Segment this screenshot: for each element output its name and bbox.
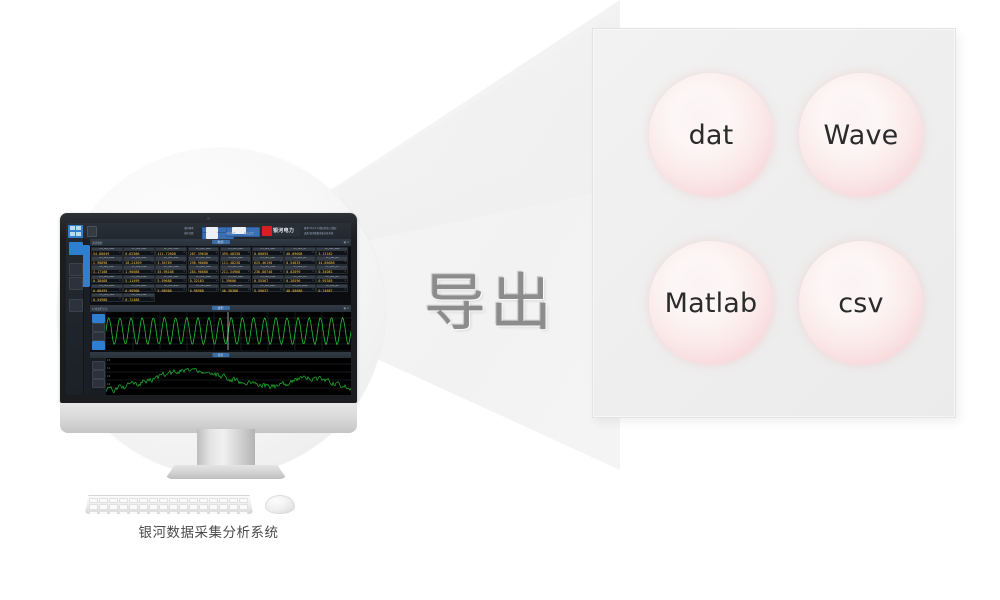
desktop-computer: 采样频率 采样点数 通道配置 触发设置 记录 银河电力 版本:V3.2.1.0 … — [60, 213, 357, 428]
table-cell-unit: V — [248, 271, 249, 273]
keyboard-key[interactable] — [99, 504, 108, 509]
table-cell-unit: V — [344, 280, 345, 282]
waveform-plot[interactable] — [106, 312, 351, 350]
keyboard-key[interactable] — [129, 504, 138, 509]
format-bubble-dat[interactable]: dat — [649, 73, 773, 197]
table-cell[interactable]: CH_ALL_DM91.39606V — [220, 275, 252, 284]
table-cell[interactable]: CH_ALL_FM20.72488V — [123, 293, 155, 302]
spectrum-tool-2[interactable] — [92, 370, 105, 379]
table-cell-value: 0.54835 — [286, 261, 312, 265]
spectrum-ytick-3: 0.0 — [107, 384, 110, 386]
table-cell[interactable]: CH_ALL_DM65.11499V — [123, 275, 155, 284]
data-table-window-buttons[interactable]: ▣ ✕ — [344, 241, 349, 244]
spectrum-tool-1[interactable] — [92, 361, 105, 370]
data-table-panel: 通道数据 数值 ▣ ✕ CH_ALL_AM154.80049VCH_ALL_AM… — [90, 239, 351, 303]
table-cell[interactable]: CH_ALL_DM50.38468V — [91, 275, 123, 284]
data-table-left-label: 通道数据 — [92, 241, 102, 245]
table-cell-unit: V — [280, 252, 281, 254]
keyboard-key[interactable] — [219, 498, 228, 503]
daq-application: 采样频率 采样点数 通道配置 触发设置 记录 银河电力 版本:V3.2.1.0 … — [66, 223, 351, 395]
keyboard-key[interactable] — [189, 498, 198, 503]
keyboard-key[interactable] — [169, 498, 178, 503]
table-cell-unit: V — [280, 289, 281, 291]
waveform-panel: 时域波形显示 波形 ▣ ✕ — [90, 305, 351, 350]
format-label-matlab: Matlab — [665, 288, 758, 319]
table-cell-unit: V — [248, 261, 249, 263]
waveform-left-label: 时域波形显示 — [92, 307, 108, 311]
table-cell-value: 0.34081 — [318, 270, 344, 274]
monitor-stand-foot — [165, 465, 287, 479]
table-cell-value: 5.11499 — [125, 279, 151, 283]
format-bubble-csv[interactable]: csv — [799, 241, 923, 365]
spectrum-ytick-0: 0.6 — [107, 360, 110, 362]
table-cell[interactable]: CH_ALL_CM81.90088V — [123, 265, 155, 274]
table-cell-unit: V — [248, 280, 249, 282]
waveform-tool-zoom[interactable] — [92, 323, 105, 332]
table-cell-unit: V — [184, 271, 185, 273]
keyboard-key[interactable] — [139, 498, 148, 503]
table-cell-unit: V — [184, 252, 185, 254]
table-cell[interactable]: CH_ALL_AM60.80855V — [252, 247, 284, 256]
table-cell-unit: V — [216, 289, 217, 291]
keyboard-key[interactable] — [139, 511, 148, 516]
scene-root: 采样频率 采样点数 通道配置 触发设置 记录 银河电力 版本:V3.2.1.0 … — [0, 0, 1000, 600]
table-cell-unit: V — [184, 261, 185, 263]
toolbar-field-label-1: 采样频率 — [184, 227, 194, 230]
data-table-grid: CH_ALL_AM154.80049VCH_ALL_AM20.62586VCH_… — [91, 247, 350, 302]
table-cell-unit: V — [280, 261, 281, 263]
table-cell-unit: V — [119, 280, 120, 282]
table-cell-unit: V — [216, 252, 217, 254]
table-cell-value: 0.08495 — [93, 289, 119, 293]
table-cell[interactable]: CH_ALL_BM92.98898V — [91, 256, 123, 265]
keyboard-key[interactable] — [119, 504, 128, 509]
table-cell-value: 1.90088 — [125, 270, 151, 274]
spectrum-ytick-1: 0.4 — [107, 368, 110, 370]
brand-logo: 银河电力 — [262, 226, 300, 236]
table-cell[interactable]: CH_ALL_BM83.13182V — [316, 247, 348, 256]
keyboard-key[interactable] — [239, 498, 248, 503]
table-cell-value: 495.48338 — [222, 252, 248, 256]
mouse[interactable] — [265, 495, 295, 514]
table-cell-value: 1.39606 — [222, 279, 248, 283]
sidebar-item-dashboard[interactable] — [69, 242, 83, 255]
table-cell-unit: V — [312, 289, 313, 291]
keyboard-key[interactable] — [109, 504, 118, 509]
table-cell[interactable]: CH_ALL_C30.02099V — [284, 265, 316, 274]
spectrum-toolbar — [90, 358, 106, 395]
keyboard-key[interactable] — [199, 498, 208, 503]
table-cell-unit: V — [119, 252, 120, 254]
toolbar-input-2-value[interactable] — [206, 232, 218, 239]
keyboard-key[interactable] — [159, 511, 168, 516]
table-cell[interactable]: CH_ALL_CM73.17108V — [91, 265, 123, 274]
keyboard-key[interactable] — [179, 498, 188, 503]
table-cell-unit: V — [119, 298, 120, 300]
table-cell-value: 5.98988 — [157, 289, 183, 293]
table-cell-value: 0.26596 — [286, 279, 312, 283]
table-cell-value: 111.72608 — [157, 252, 183, 256]
table-cell[interactable]: CH_ALL_CM2236.80740V — [252, 265, 284, 274]
keyboard-key[interactable] — [139, 504, 148, 509]
webcam-icon — [207, 217, 210, 220]
app-toolbar: 采样频率 采样点数 通道配置 触发设置 记录 银河电力 版本:V3.2.1.0 … — [66, 223, 351, 240]
table-cell-value: 0.98988 — [190, 289, 216, 293]
table-cell[interactable]: CH_ALL_EM30.08495V — [91, 284, 123, 293]
table-cell[interactable]: CH_ALL_EM85.59637V — [252, 284, 284, 293]
keyboard-key[interactable] — [149, 511, 158, 516]
sidebar-item-channels[interactable] — [69, 263, 83, 276]
table-cell-value: 46.38388 — [222, 289, 248, 293]
table-cell[interactable]: CH_ALL_BM2298.90080V — [188, 256, 220, 265]
waveform-tool-pan[interactable] — [92, 332, 105, 341]
table-cell[interactable]: CH_ALL_FM10.54988V — [91, 293, 123, 302]
table-cell[interactable]: CH_ALL_EM948.58688V — [284, 284, 316, 293]
keyboard-key[interactable] — [119, 498, 128, 503]
table-cell-value: 0.80855 — [254, 252, 280, 256]
format-bubble-wave[interactable]: Wave — [799, 73, 923, 197]
table-cell-value: 28.24309 — [125, 261, 151, 265]
table-cell-value: 236.80740 — [254, 270, 280, 274]
waveform-svg — [106, 312, 351, 350]
table-cell[interactable]: CH_ALL_AM20.62586V — [123, 247, 155, 256]
table-cell[interactable]: CH_ALL_AM154.80049V — [91, 247, 123, 256]
keyboard-key[interactable] — [159, 504, 168, 509]
keyboard-key[interactable] — [119, 511, 128, 516]
table-cell-unit: V — [280, 280, 281, 282]
table-cell-unit: V — [344, 271, 345, 273]
keyboard-key[interactable] — [169, 511, 178, 516]
keyboard-key[interactable] — [189, 504, 198, 509]
spectrum-title: 频谱 — [212, 353, 229, 357]
table-cell-value: 0.72488 — [125, 298, 151, 302]
table-cell[interactable]: CH_ALL_BM4625.46190V — [252, 256, 284, 265]
table-cell-unit: V — [216, 271, 217, 273]
table-cell-value: 0.54988 — [93, 298, 119, 302]
keyboard-key[interactable] — [149, 504, 158, 509]
keyboard-key[interactable] — [129, 498, 138, 503]
table-cell[interactable]: CH_ALL_AM5495.48338V — [220, 247, 252, 256]
table-cell-value: 211.34908 — [222, 270, 248, 274]
keyboard-key[interactable] — [89, 511, 98, 516]
table-cell-unit: V — [312, 280, 313, 282]
table-cell-unit: V — [151, 271, 152, 273]
table-cell-value: 0.74687 — [318, 289, 344, 293]
table-cell[interactable]: CH_ALL_AM4287.39630V — [188, 247, 220, 256]
table-cell-value: 2.98898 — [93, 261, 119, 265]
table-cell-value: 5.59688 — [157, 279, 183, 283]
keyboard-key[interactable] — [229, 504, 238, 509]
keyboard-key[interactable] — [209, 511, 218, 516]
table-cell[interactable]: CH_ALL_EM746.38388V — [220, 284, 252, 293]
table-cell-value: 287.39630 — [190, 252, 216, 256]
toolbar-small-item-1[interactable]: 通道配置 — [226, 232, 236, 235]
table-cell-value: 40.09608 — [286, 252, 312, 256]
table-cell-unit: V — [184, 289, 185, 291]
table-cell-unit: V — [216, 280, 217, 282]
toolbar-meta-1: 版本:V3.2.1.0 授权状态:已授权 — [304, 227, 336, 230]
spectrum-panel: 频谱 — [90, 352, 351, 395]
table-cell[interactable]: CH_ALL_B644.86686V — [316, 256, 348, 265]
table-cell-unit: V — [312, 252, 313, 254]
format-bubble-group: dat Wave Matlab csv — [593, 29, 955, 417]
table-cell[interactable]: CH_ALL_E00.74687V — [316, 284, 348, 293]
table-cell[interactable]: CH_ALL_BM3111.48238V — [220, 256, 252, 265]
table-cell-value: 5.59637 — [254, 289, 280, 293]
table-cell-value: 0.55567 — [254, 279, 280, 283]
sidebar-item-settings[interactable] — [69, 277, 83, 290]
keyboard-key[interactable] — [229, 511, 238, 516]
waveform-toolbar — [90, 312, 106, 350]
table-cell-value: 48.58688 — [286, 289, 312, 293]
table-cell-unit: V — [119, 261, 120, 263]
table-cell-value: 44.86686 — [318, 261, 344, 265]
table-cell[interactable]: CH_ALL_B50.54835V — [284, 256, 316, 265]
keyboard-key[interactable] — [99, 498, 108, 503]
keyboard-key[interactable] — [169, 504, 178, 509]
sidebar-active-tab[interactable] — [83, 245, 90, 287]
table-cell-unit: V — [312, 271, 313, 273]
app-sidebar — [66, 239, 84, 395]
table-cell[interactable]: CH_ALL_D20.95385V — [316, 275, 348, 284]
waveform-tool-cursor[interactable] — [92, 314, 105, 323]
table-cell[interactable]: CH_ALL_EM55.98988V — [155, 284, 187, 293]
table-cell-unit: V — [344, 289, 345, 291]
toolbar-field-label-2: 采样点数 — [184, 232, 194, 235]
format-label-wave: Wave — [824, 120, 899, 151]
table-cell-unit: V — [184, 280, 185, 282]
table-cell-unit: V — [151, 261, 152, 263]
keyboard-key[interactable] — [89, 504, 98, 509]
table-cell-unit: V — [344, 261, 345, 263]
keyboard-key[interactable] — [89, 498, 98, 503]
table-cell-value: 0.32183 — [190, 279, 216, 283]
table-cell-unit: V — [151, 298, 152, 300]
table-cell-value: 3.13182 — [318, 252, 344, 256]
table-cell-value: 0.02099 — [286, 270, 312, 274]
keyboard-key[interactable] — [239, 511, 248, 516]
table-cell-value: 0.62586 — [125, 252, 151, 256]
monitor-stand-neck — [197, 429, 255, 469]
table-cell[interactable]: CH_ALL_AM3111.72608V — [155, 247, 187, 256]
table-cell-value: 111.48238 — [222, 261, 248, 265]
monitor-screen: 采样频率 采样点数 通道配置 触发设置 记录 银河电力 版本:V3.2.1.0 … — [66, 223, 351, 395]
monitor-bezel: 采样频率 采样点数 通道配置 触发设置 记录 银河电力 版本:V3.2.1.0 … — [60, 213, 357, 403]
keyboard-key[interactable] — [239, 504, 248, 509]
export-formats-panel: dat Wave Matlab csv — [592, 28, 956, 418]
table-cell-unit: V — [280, 271, 281, 273]
spectrum-svg — [106, 358, 351, 395]
format-bubble-matlab[interactable]: Matlab — [649, 241, 773, 365]
keyboard-key[interactable] — [219, 511, 228, 516]
keyboard-key[interactable] — [219, 504, 228, 509]
table-cell[interactable]: CH_ALL_C40.34081V — [316, 265, 348, 274]
keyboard-key[interactable] — [179, 511, 188, 516]
keyboard-key[interactable] — [209, 498, 218, 503]
table-cell-unit: V — [119, 289, 120, 291]
sidebar-item-storage[interactable] — [69, 299, 83, 312]
table-cell-value: 0.90908 — [125, 289, 151, 293]
table-cell[interactable]: CH_ALL_BM028.24309V — [123, 256, 155, 265]
waveform-window-buttons[interactable]: ▣ ✕ — [344, 307, 349, 310]
waveform-title: 波形 — [211, 306, 229, 310]
table-cell[interactable]: CH_ALL_EM60.98988V — [188, 284, 220, 293]
keyboard-key[interactable] — [199, 504, 208, 509]
table-cell-value: 45.98108 — [157, 270, 183, 274]
table-cell-unit: V — [151, 252, 152, 254]
keyboard-key[interactable] — [109, 498, 118, 503]
table-cell-value: 3.17108 — [93, 270, 119, 274]
table-cell-unit: V — [248, 289, 249, 291]
keyboard-key[interactable] — [149, 498, 158, 503]
table-cell-value: 54.80049 — [93, 252, 119, 256]
keyboard-key[interactable] — [209, 504, 218, 509]
table-cell[interactable]: CH_ALL_CM1211.34908V — [220, 265, 252, 274]
waveform-tool-measure[interactable] — [92, 341, 105, 350]
keyboard-key[interactable] — [129, 511, 138, 516]
keyboard-key[interactable] — [159, 498, 168, 503]
keyboard-key[interactable] — [109, 511, 118, 516]
table-cell[interactable]: CH_ALL_A740.09608V — [284, 247, 316, 256]
table-cell[interactable]: CH_ALL_DM75.59688V — [155, 275, 187, 284]
table-cell-unit: V — [119, 271, 120, 273]
spectrum-ytick-2: 0.2 — [107, 376, 110, 378]
format-label-csv: csv — [838, 288, 884, 319]
brand-logo-text: 银河电力 — [273, 227, 294, 234]
toolbar-meta-2: 设备:银河数据采集分析系统 — [304, 232, 333, 235]
toolbar-icon-1[interactable] — [87, 226, 97, 237]
table-cell-unit: V — [151, 280, 152, 282]
table-cell[interactable]: CH_ALL_CM0284.90680V — [188, 265, 220, 274]
table-cell-value: 625.46190 — [254, 261, 280, 265]
format-label-dat: dat — [689, 120, 734, 151]
toolbar-small-item-2[interactable]: 触发设置 — [244, 232, 254, 235]
export-label: 导出 — [424, 252, 556, 342]
keyboard[interactable] — [85, 495, 253, 514]
table-cell-value: 284.90680 — [190, 270, 216, 274]
keyboard-key[interactable] — [189, 511, 198, 516]
data-table-header: 通道数据 数值 ▣ ✕ — [90, 239, 351, 247]
table-cell-unit: V — [312, 261, 313, 263]
table-cell-value: 0.38468 — [93, 279, 119, 283]
table-cell-unit: V — [248, 252, 249, 254]
table-cell[interactable]: CH_ALL_DM80.32183V — [188, 275, 220, 284]
spectrum-tool-3[interactable] — [92, 379, 105, 388]
table-cell[interactable]: CH_ALL_DM00.55567V — [252, 275, 284, 284]
data-table-title: 数值 — [211, 240, 229, 244]
table-cell[interactable]: CH_ALL_D10.26596V — [284, 275, 316, 284]
table-cell[interactable]: CH_ALL_EM40.90908V — [123, 284, 155, 293]
app-logo-icon[interactable] — [68, 225, 83, 238]
table-cell-unit: V — [344, 252, 345, 254]
keyboard-key[interactable] — [229, 498, 238, 503]
keyboard-key[interactable] — [179, 504, 188, 509]
table-cell-value: 3.36789 — [157, 261, 183, 265]
table-cell[interactable]: CH_ALL_BM13.36789V — [155, 256, 187, 265]
table-cell[interactable]: CH_ALL_CM945.98108V — [155, 265, 187, 274]
table-cell-value: 0.95385 — [318, 279, 344, 283]
table-cell-value: 298.90080 — [190, 261, 216, 265]
table-cell-unit: V — [151, 289, 152, 291]
spectrum-plot[interactable]: 0.6 0.4 0.2 0.0 — [106, 358, 351, 395]
keyboard-key[interactable] — [99, 511, 108, 516]
table-cell-unit: V — [216, 261, 217, 263]
keyboard-key[interactable] — [199, 511, 208, 516]
product-caption: 银河数据采集分析系统 — [60, 521, 357, 541]
